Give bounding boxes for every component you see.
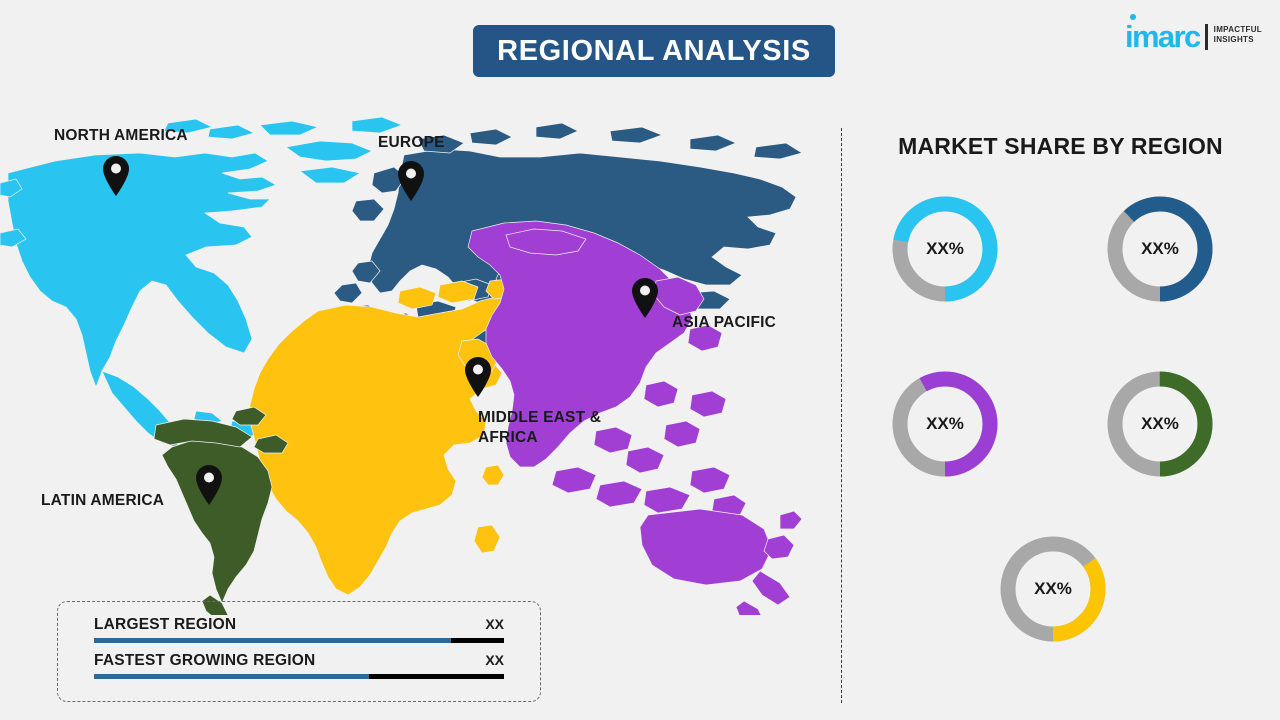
logo-text: imarc bbox=[1125, 19, 1200, 54]
donut-chart-north-america: XX% bbox=[882, 186, 1008, 312]
map-label-latin-america: LATIN AMERICA bbox=[41, 491, 164, 511]
map-pin-asia-pacific-icon[interactable] bbox=[630, 277, 660, 319]
logo-wordmark: imarc bbox=[1125, 22, 1200, 52]
logo-tagline: IMPACTFUL INSIGHTS bbox=[1214, 25, 1262, 45]
map-pin-europe-icon[interactable] bbox=[396, 160, 426, 202]
legend-value-largest-region: XX bbox=[485, 616, 504, 632]
market-share-title: MARKET SHARE BY REGION bbox=[841, 133, 1280, 160]
legend-bar-fastest-growing-region bbox=[94, 674, 504, 679]
donut-value-label: XX% bbox=[882, 186, 1008, 312]
donut-chart-europe: XX% bbox=[1097, 186, 1223, 312]
legend-row-largest-region: LARGEST REGION XX bbox=[94, 616, 504, 643]
page-title: REGIONAL ANALYSIS bbox=[497, 35, 811, 68]
donut-value-label: XX% bbox=[882, 361, 1008, 487]
imarc-logo: imarc IMPACTFUL INSIGHTS bbox=[1125, 22, 1262, 52]
logo-tagline-line2: INSIGHTS bbox=[1214, 35, 1262, 45]
page-title-banner: REGIONAL ANALYSIS bbox=[473, 25, 835, 77]
market-share-donut-group: XX%XX%XX%XX%XX% bbox=[860, 178, 1270, 678]
map-label-north-america: NORTH AMERICA bbox=[54, 126, 188, 146]
legend-bar-largest-region bbox=[94, 638, 504, 643]
donut-chart-middle-east-africa: XX% bbox=[990, 526, 1116, 652]
logo-tagline-line1: IMPACTFUL bbox=[1214, 25, 1262, 35]
infographic-canvas: REGIONAL ANALYSIS imarc IMPACTFUL INSIGH… bbox=[0, 0, 1280, 720]
donut-chart-latin-america: XX% bbox=[1097, 361, 1223, 487]
legend-row-fastest-growing-region: FASTEST GROWING REGION XX bbox=[94, 652, 504, 679]
donut-chart-asia-pacific: XX% bbox=[882, 361, 1008, 487]
map-pin-north-america-icon[interactable] bbox=[101, 155, 131, 197]
map-label-middle-east-africa: MIDDLE EAST & AFRICA bbox=[478, 408, 601, 448]
map-region-latin-america bbox=[154, 407, 288, 615]
legend-bar-fill-fastest-growing-region bbox=[94, 674, 369, 679]
legend-bar-fill-largest-region bbox=[94, 638, 451, 643]
donut-value-label: XX% bbox=[1097, 186, 1223, 312]
region-summary-box: LARGEST REGION XX FASTEST GROWING REGION… bbox=[57, 601, 541, 702]
legend-label-fastest-growing-region: FASTEST GROWING REGION bbox=[94, 652, 315, 670]
map-pin-latin-america-icon[interactable] bbox=[194, 464, 224, 506]
legend-label-largest-region: LARGEST REGION bbox=[94, 616, 236, 634]
legend-value-fastest-growing-region: XX bbox=[485, 652, 504, 668]
map-label-europe: EUROPE bbox=[378, 133, 445, 153]
logo-divider bbox=[1205, 24, 1208, 50]
map-pin-middle-east-africa-icon[interactable] bbox=[463, 356, 493, 398]
section-divider bbox=[841, 128, 842, 703]
donut-value-label: XX% bbox=[1097, 361, 1223, 487]
logo-dot-icon bbox=[1130, 14, 1136, 20]
map-label-asia-pacific: ASIA PACIFIC bbox=[672, 313, 776, 333]
donut-value-label: XX% bbox=[990, 526, 1116, 652]
